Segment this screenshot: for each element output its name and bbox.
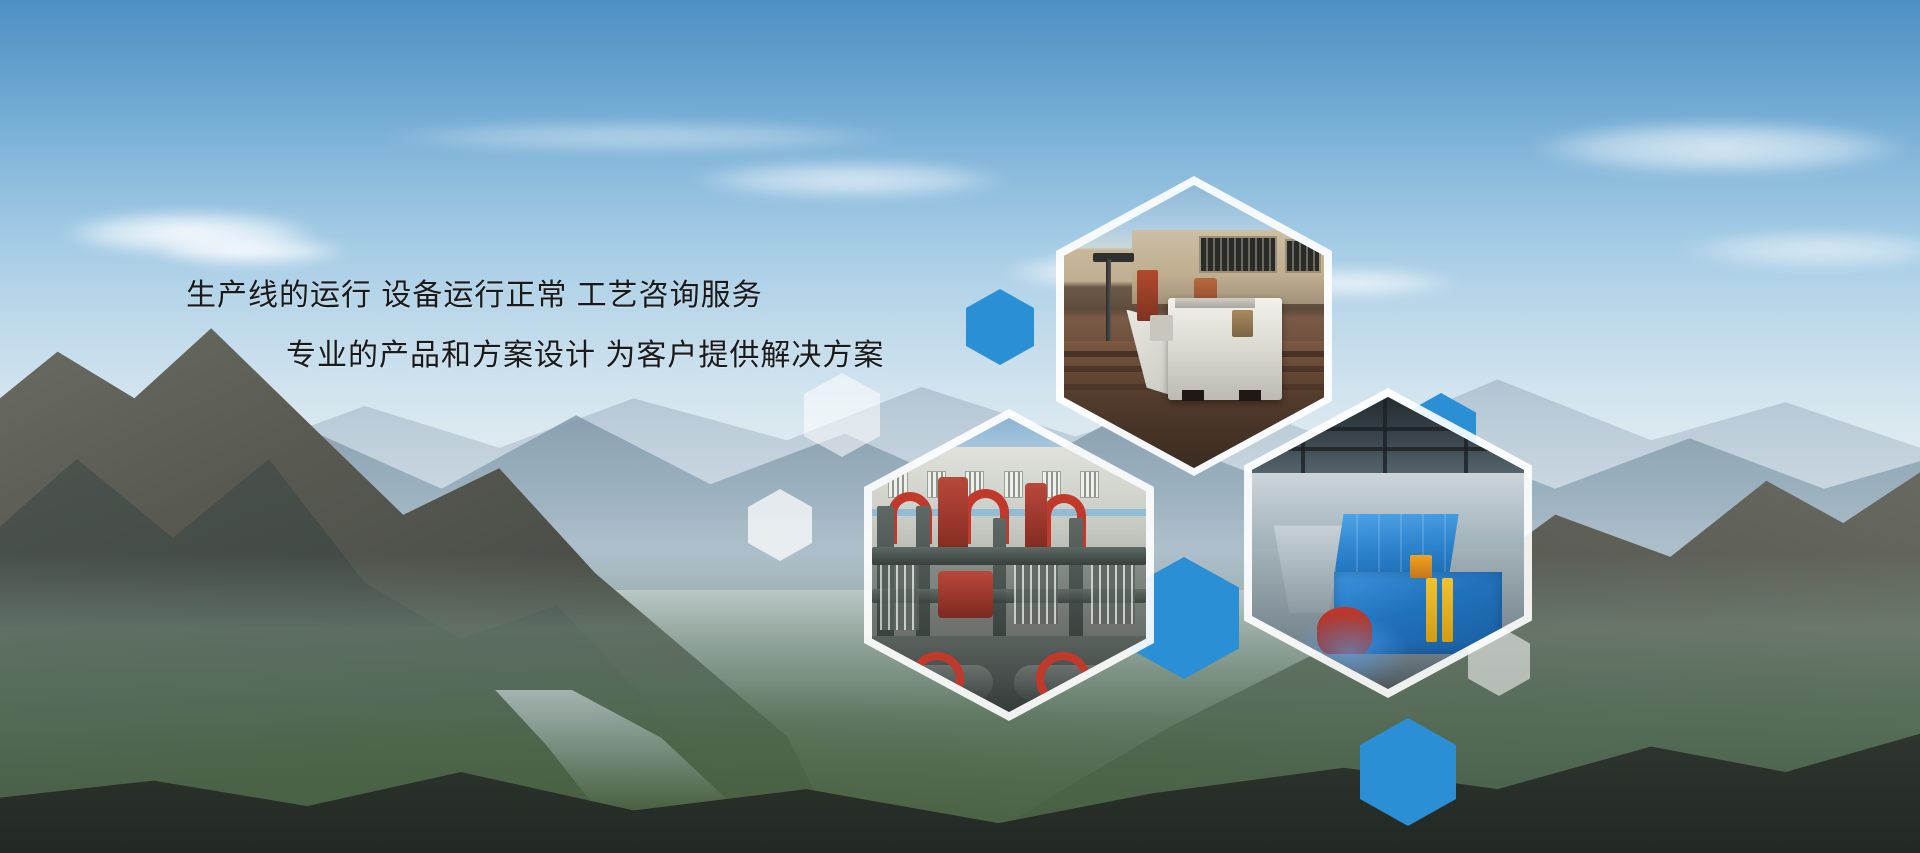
hexagon-collage (0, 0, 1920, 853)
photo-yellow-guard (1426, 578, 1437, 642)
photo-steel-column (1069, 518, 1083, 641)
hexagon-decor-white-2 (748, 489, 812, 561)
photo-crossbeam (872, 547, 1146, 565)
photo-red-panel (938, 571, 993, 618)
photo-overhead-pipe (1093, 253, 1135, 262)
photo-orange-marker (1410, 555, 1432, 578)
photo-bucket (1150, 315, 1173, 340)
photo-grate (880, 565, 918, 630)
photo-yellow-guard (1442, 578, 1453, 642)
photo-machine-body (1168, 298, 1282, 400)
photo-grate (1091, 565, 1135, 624)
photo-red-tank (1025, 483, 1047, 554)
photo-steel-column (993, 518, 1007, 641)
banner-headline: 生产线的运行 设备运行正常 工艺咨询服务 专业的产品和方案设计 为客户提供解决方… (186, 266, 926, 386)
hexagon-decor-blue-1 (966, 289, 1034, 365)
hero-banner: 生产线的运行 设备运行正常 工艺咨询服务 专业的产品和方案设计 为客户提供解决方… (0, 0, 1920, 853)
photo-red-canister (1137, 270, 1158, 321)
headline-line-1: 生产线的运行 设备运行正常 工艺咨询服务 (186, 266, 926, 326)
photo-window (1199, 236, 1277, 273)
headline-line-2: 专业的产品和方案设计 为客户提供解决方案 (186, 326, 926, 386)
photo-machine-base (872, 636, 1146, 712)
hexagon-decor-blue-4 (1360, 718, 1456, 826)
photo-shredder-hopper (1334, 514, 1459, 578)
photo-grate (1014, 565, 1058, 624)
